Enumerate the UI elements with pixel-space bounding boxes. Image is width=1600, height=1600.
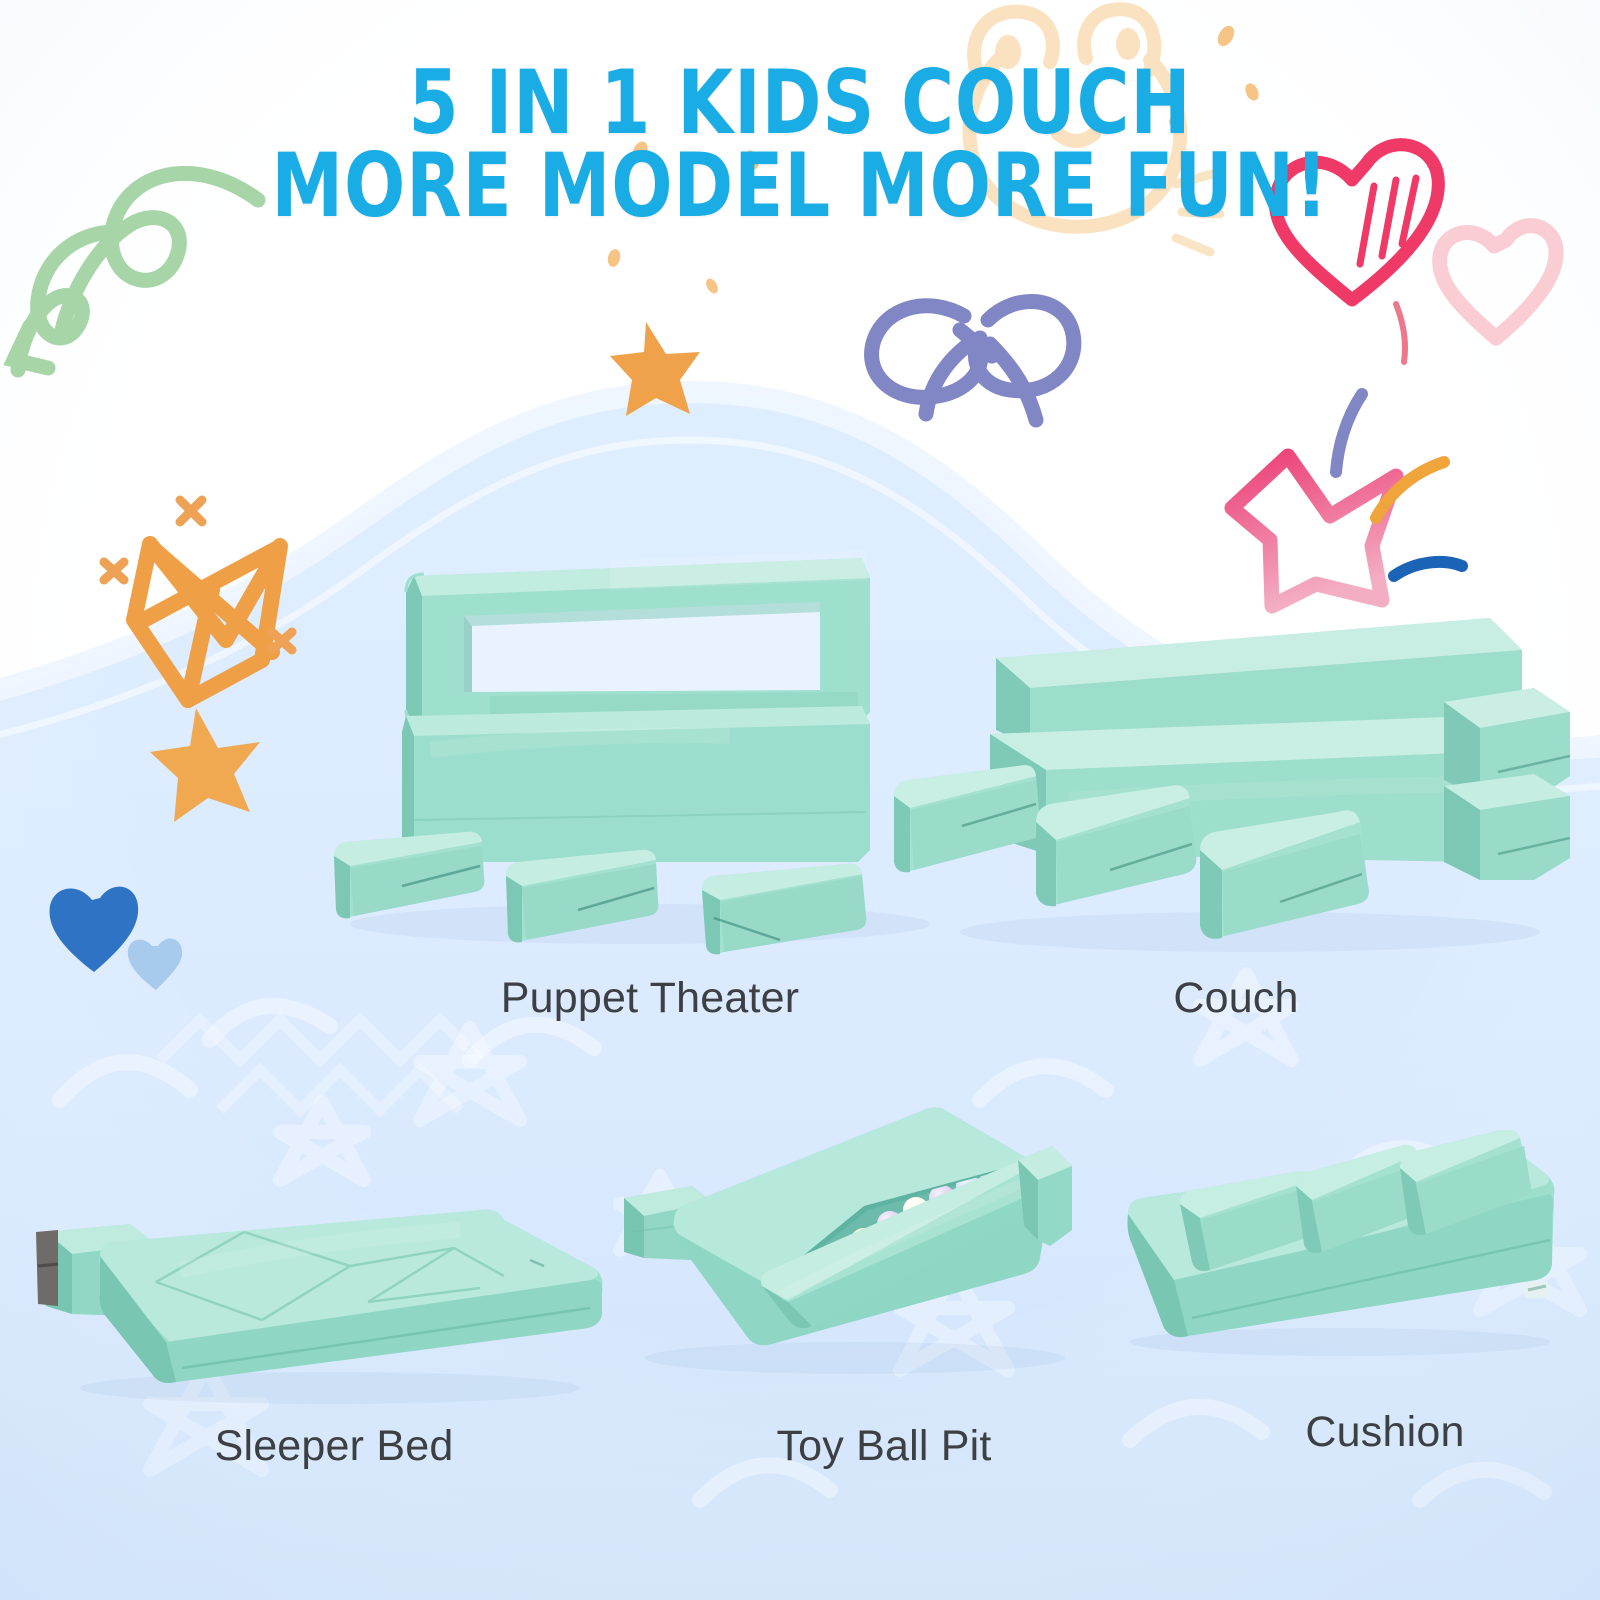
label-toy-ball-pit: Toy Ball Pit [776, 1422, 991, 1471]
infographic-canvas: 5 IN 1 KIDS COUCH MORE MODEL MORE FUN! [0, 0, 1600, 1600]
sleeper-bed-folded-mattress [100, 1210, 603, 1383]
product-toy-ball-pit [620, 1090, 1090, 1390]
couch-arm-rest [1444, 688, 1570, 880]
couch-pillow-block-2 [1036, 785, 1196, 906]
puppet-theater-pillow-block-3 [702, 864, 866, 955]
label-sleeper-bed: Sleeper Bed [215, 1422, 454, 1471]
puppet-theater-pillow-block-1 [334, 832, 484, 919]
product-puppet-theater [310, 520, 950, 980]
label-cushion: Cushion [1305, 1408, 1464, 1457]
product-couch [870, 600, 1570, 980]
product-sleeper-bed [30, 1170, 620, 1420]
ball-pit-shadow [645, 1342, 1065, 1374]
label-puppet-theater: Puppet Theater [501, 974, 799, 1023]
label-couch: Couch [1173, 974, 1298, 1023]
puppet-theater-frame-panel [406, 550, 870, 728]
couch-pillow-block-1 [894, 765, 1040, 872]
product-cushion [1100, 1130, 1570, 1370]
